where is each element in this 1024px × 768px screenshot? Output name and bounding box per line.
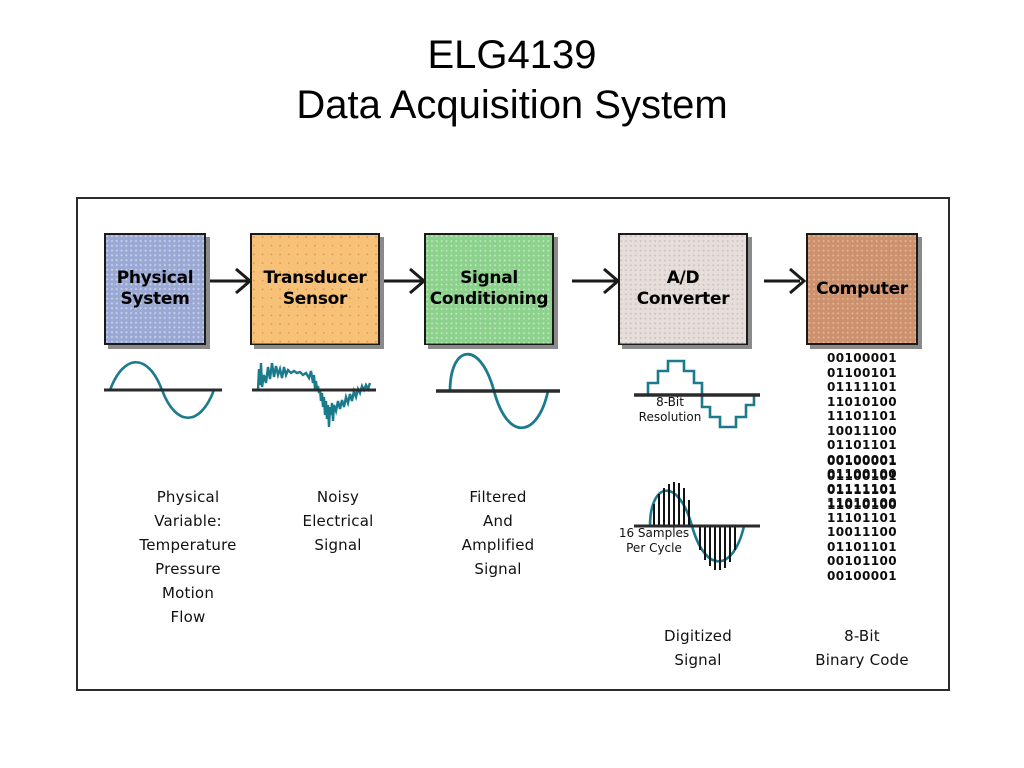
caption-line: Variable: (104, 509, 272, 533)
binary-row: 00101100 (800, 554, 924, 569)
caption-line: Signal (430, 557, 566, 581)
binary-row: 01101101 (800, 540, 924, 555)
caption-line: Digitized (630, 624, 766, 648)
caption-line: Amplified (430, 533, 566, 557)
label-16-samples-line1: 16 Samples (602, 526, 706, 541)
diagram-frame: Physical System Transducer Sensor (76, 197, 950, 691)
caption-filtered-amplified-signal: Filtered And Amplified Signal (430, 485, 566, 581)
stage-box-ad-converter[interactable]: A/D Converter (618, 233, 748, 345)
binary-row: 10011100 (800, 525, 924, 540)
caption-digitized-signal: Digitized Signal (630, 624, 766, 672)
stage-label-ad-converter-line2: Converter (637, 289, 730, 310)
binary-row: 11101101 (800, 409, 924, 424)
stage-label-signal-conditioning-line2: Conditioning (430, 289, 549, 310)
binary-row: 00100001 (800, 454, 924, 469)
caption-line: 8-Bit (794, 624, 930, 648)
caption-line: Binary Code (794, 648, 930, 672)
page-title-line2: Data Acquisition System (0, 80, 1024, 130)
caption-line: Motion (104, 581, 272, 605)
binary-row: 01100101 (800, 366, 924, 381)
caption-physical-variable: Physical Variable: Temperature Pressure … (104, 485, 272, 629)
caption-line: Electrical (268, 509, 408, 533)
binary-row: 11101101 (800, 511, 924, 526)
label-16-samples-per-cycle: 16 Samples Per Cycle (602, 526, 706, 556)
stage-label-transducer-sensor-line2: Sensor (263, 289, 366, 310)
caption-line: And (430, 509, 566, 533)
stage-label-signal-conditioning-line1: Signal (430, 268, 549, 289)
caption-line: Noisy (268, 485, 408, 509)
stage-label-physical-system-line1: Physical (117, 268, 194, 289)
caption-line: Pressure (104, 557, 272, 581)
binary-row: 00100001 (800, 351, 924, 366)
binary-row: 01111101 (800, 380, 924, 395)
caption-8bit-binary-code: 8-Bit Binary Code (794, 624, 930, 672)
caption-line: Signal (268, 533, 408, 557)
label-8bit-resolution-line2: Resolution (622, 410, 718, 425)
caption-line: Flow (104, 605, 272, 629)
stage-box-physical-system[interactable]: Physical System (104, 233, 206, 345)
binary-row: 01100101 (800, 469, 924, 484)
stage-label-physical-system-line2: System (117, 289, 194, 310)
caption-line: Filtered (430, 485, 566, 509)
caption-line: Temperature (104, 533, 272, 557)
caption-line: Signal (630, 648, 766, 672)
binary-row: 01101101 (800, 438, 924, 453)
stage-label-ad-converter-line1: A/D (637, 268, 730, 289)
stage-box-computer[interactable]: Computer (806, 233, 918, 345)
binary-row: 11010100 (800, 498, 924, 513)
waveform-physical-variable (102, 355, 226, 425)
stage-box-signal-conditioning[interactable]: Signal Conditioning (424, 233, 554, 345)
waveform-filtered-amplified (434, 339, 564, 445)
label-8bit-resolution: 8-Bit Resolution (622, 395, 718, 425)
binary-row: 00100001 (800, 569, 924, 584)
page-title-line1: ELG4139 (0, 30, 1024, 80)
waveform-noisy-signal (248, 345, 382, 435)
stage-label-transducer-sensor-line1: Transducer (263, 268, 366, 289)
binary-row: 10011100 (800, 424, 924, 439)
binary-row: 01111101 (800, 483, 924, 498)
label-8bit-resolution-line1: 8-Bit (622, 395, 718, 410)
stage-box-transducer-sensor[interactable]: Transducer Sensor (250, 233, 380, 345)
waveform-quantized-staircase (632, 347, 766, 439)
caption-noisy-electrical-signal: Noisy Electrical Signal (268, 485, 408, 557)
page-title: ELG4139 Data Acquisition System (0, 30, 1024, 130)
label-16-samples-line2: Per Cycle (602, 541, 706, 556)
stage-label-computer-line1: Computer (816, 279, 908, 300)
diagram-canvas: Physical System Transducer Sensor (78, 199, 948, 689)
binary-code-block-overlap: 00100001 01100101 01111101 11010100 (800, 454, 924, 512)
caption-line: Physical (104, 485, 272, 509)
binary-row: 11010100 (800, 395, 924, 410)
